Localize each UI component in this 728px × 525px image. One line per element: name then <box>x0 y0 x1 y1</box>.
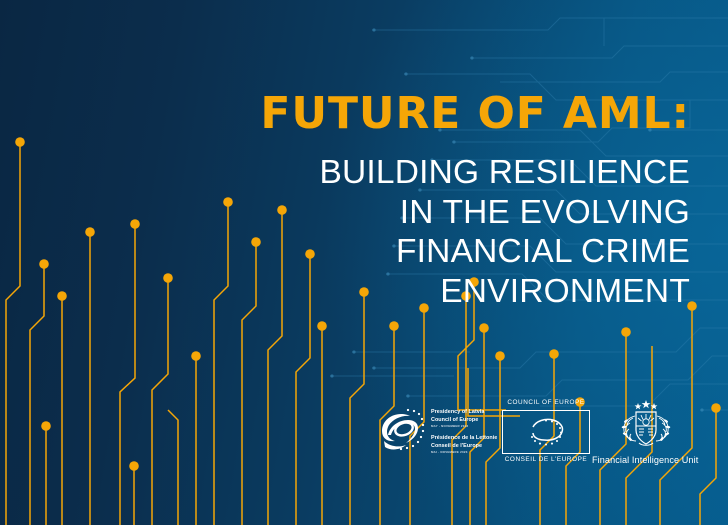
latvia-coat-of-arms <box>615 398 677 454</box>
page-subtitle: BUILDING RESILIENCE IN THE EVOLVING FINA… <box>220 153 690 312</box>
coe-caption-top: COUNCIL OF EUROPE <box>502 400 590 406</box>
poster-canvas: FUTURE OF AML: BUILDING RESILIENCE IN TH… <box>0 0 728 525</box>
presidency-line-en-2: Council of Europe <box>431 416 497 424</box>
fiu-label: Financial Intelligence Unit <box>592 455 696 465</box>
presidency-line-en-1: Presidency of Latvia <box>431 408 497 416</box>
logo-presidency-of-latvia: Presidency of Latvia Council of Europe M… <box>378 398 496 464</box>
subtitle-line-3: FINANCIAL CRIME <box>220 232 690 272</box>
logo-financial-intelligence-unit: Financial Intelligence Unit <box>596 398 696 465</box>
title-block: FUTURE OF AML: BUILDING RESILIENCE IN TH… <box>220 92 690 312</box>
presidency-date-en: MAY - NOVEMBER 2023 <box>431 424 497 428</box>
logo-strip: Presidency of Latvia Council of Europe M… <box>378 398 696 478</box>
coe-caption-bottom: CONSEIL DE L'EUROPE <box>502 457 590 463</box>
page-title-headline: FUTURE OF AML: <box>220 92 690 137</box>
coe-emblem-box <box>502 410 590 454</box>
presidency-line-fr-1: Présidence de la Lettonie <box>431 434 497 442</box>
presidency-of-latvia-emblem <box>378 403 428 459</box>
presidency-text-block: Presidency of Latvia Council of Europe M… <box>431 405 497 457</box>
subtitle-line-1: BUILDING RESILIENCE <box>220 153 690 193</box>
logo-council-of-europe: COUNCIL OF EUROPE <box>502 398 592 464</box>
presidency-line-fr-2: Conseil de l'Europe <box>431 442 497 450</box>
council-of-europe-emblem <box>526 415 566 449</box>
subtitle-line-4: ENVIRONMENT <box>220 272 690 312</box>
presidency-date-fr: MAI - NOVEMBRE 2023 <box>431 450 497 454</box>
subtitle-line-2: IN THE EVOLVING <box>220 193 690 233</box>
